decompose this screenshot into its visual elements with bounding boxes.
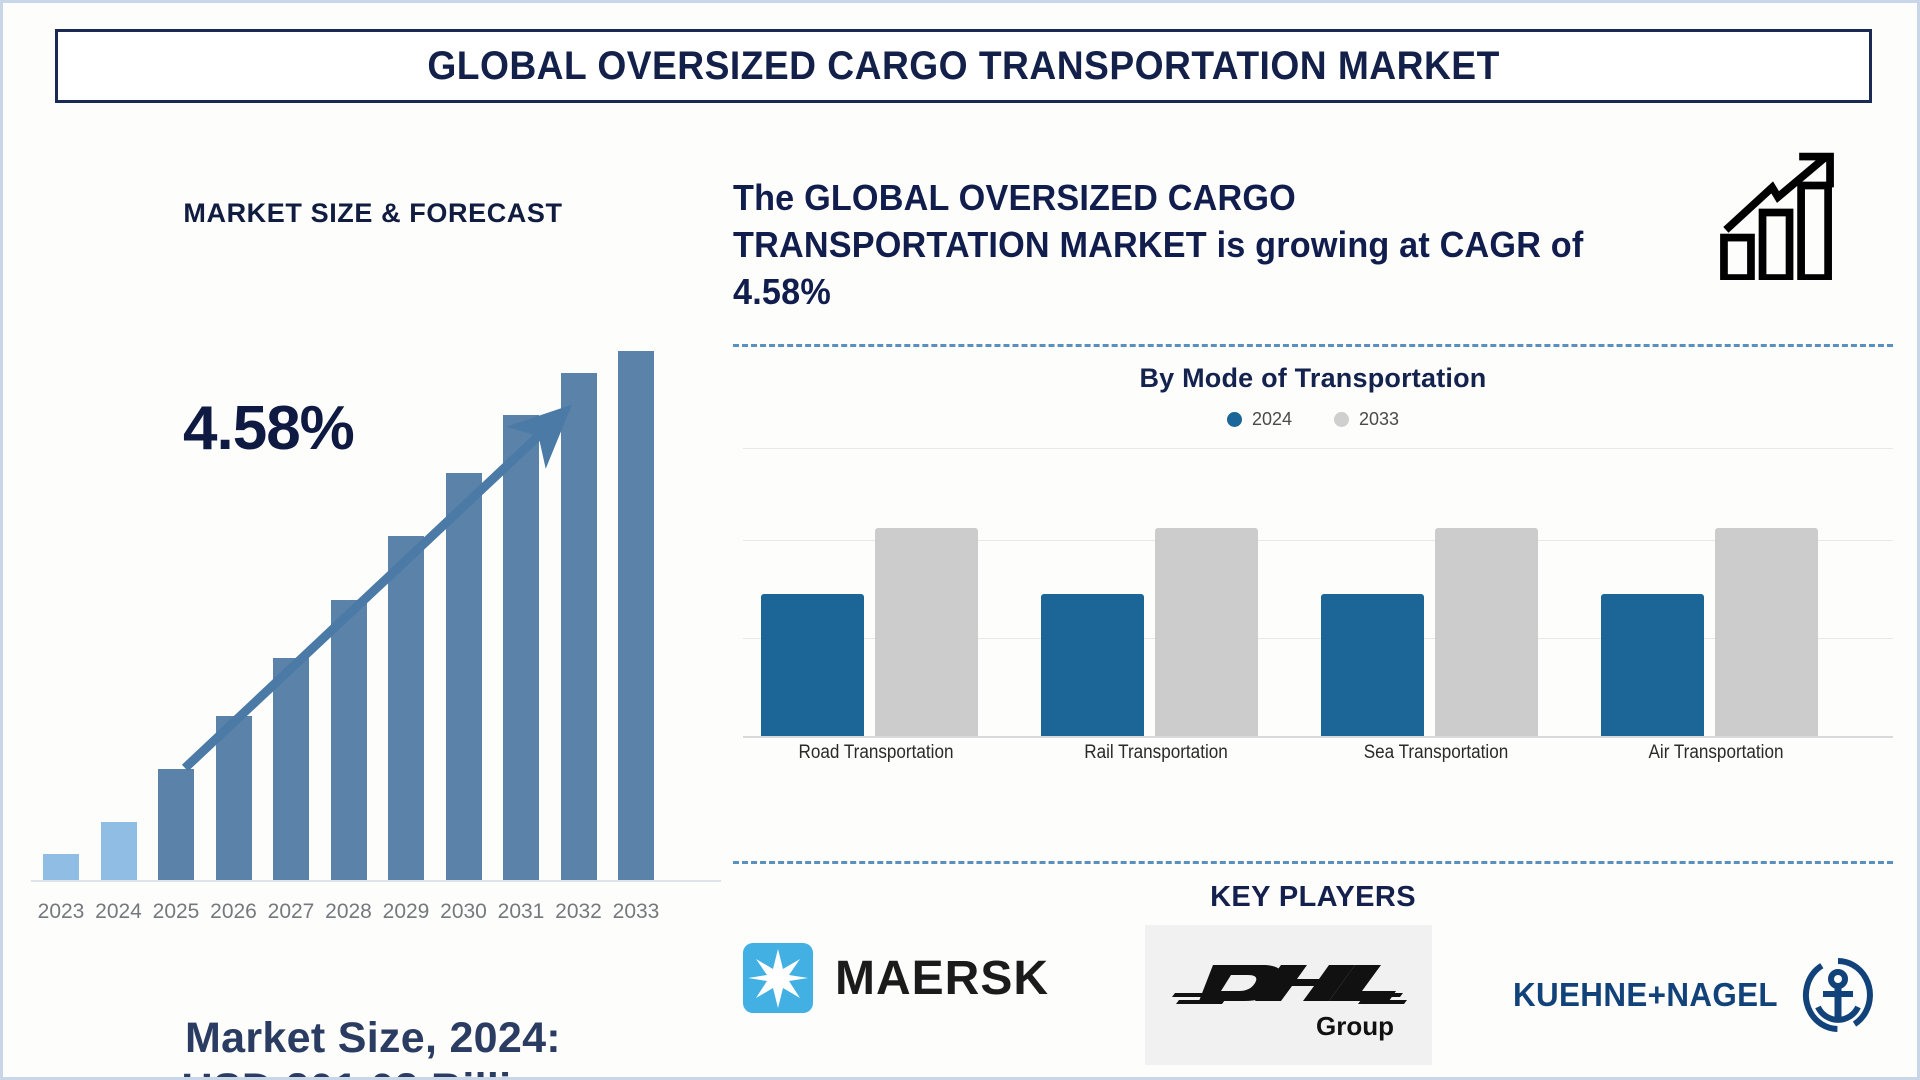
forecast-year-label: 2028: [321, 900, 377, 924]
legend-swatch-2033: [1334, 412, 1349, 427]
bar-group: Sea Transportation: [1321, 448, 1551, 736]
seven-point-star-icon: [743, 943, 813, 1013]
bar-2024: [761, 594, 864, 737]
forecast-year-label: 2029: [378, 900, 434, 924]
legend-item-2033[interactable]: 2033: [1334, 409, 1399, 430]
page-title: GLOBAL OVERSIZED CARGO TRANSPORTATION MA…: [427, 44, 1499, 89]
forecast-bars: [25, 320, 725, 880]
forecast-year-label: 2031: [493, 900, 549, 924]
legend-label-2024: 2024: [1252, 409, 1292, 430]
bar-2033: [1435, 528, 1538, 736]
key-players-heading: KEY PLAYERS: [733, 881, 1893, 914]
forecast-year-labels: 2023202420252026202720282029203020312032…: [25, 894, 725, 924]
market-size-label: Market Size, 2024:: [3, 1013, 743, 1064]
bar-2024: [1321, 594, 1424, 737]
bar-2024: [1041, 594, 1144, 737]
legend-label-2033: 2033: [1359, 409, 1399, 430]
category-label: Sea Transportation: [1310, 742, 1562, 764]
anchor-circle-icon: [1801, 955, 1875, 1035]
forecast-year-label: 2023: [33, 900, 89, 924]
bar-group: Road Transportation: [761, 448, 991, 736]
forecast-bar: [43, 854, 79, 880]
title-box: GLOBAL OVERSIZED CARGO TRANSPORTATION MA…: [55, 29, 1872, 103]
forecast-bar: [618, 351, 654, 880]
forecast-year-label: 2030: [436, 900, 492, 924]
bar-2033: [1715, 528, 1818, 736]
forecast-bar: [388, 536, 424, 880]
forecast-year-label: 2025: [148, 900, 204, 924]
legend-item-2024[interactable]: 2024: [1227, 409, 1292, 430]
divider-dashed-bottom: [733, 861, 1893, 864]
forecast-bar: [561, 373, 597, 880]
forecast-bar: [101, 822, 137, 880]
forecast-bar: [503, 415, 539, 880]
forecast-bar: [216, 716, 252, 880]
logo-kuehne-nagel-wordmark: KUEHNE+NAGEL: [1513, 976, 1778, 1014]
bar-2033: [1155, 528, 1258, 736]
logo-maersk-wordmark: MAERSK: [835, 951, 1049, 1006]
category-label: Rail Transportation: [1030, 742, 1282, 764]
forecast-year-label: 2024: [91, 900, 147, 924]
logo-kuehne-nagel[interactable]: KUEHNE+NAGEL: [1506, 955, 1875, 1035]
cagr-headline: The GLOBAL OVERSIZED CARGO TRANSPORTATIO…: [733, 175, 1588, 315]
logo-dhl-group-label: Group: [1316, 1011, 1394, 1042]
bar-2033: [875, 528, 978, 736]
legend-swatch-2024: [1227, 412, 1242, 427]
forecast-bar: [273, 658, 309, 880]
mode-of-transportation-chart: Road TransportationRail TransportationSe…: [743, 448, 1893, 738]
forecast-year-label: 2026: [206, 900, 262, 924]
growth-bar-chart-arrow-icon: [1718, 145, 1863, 280]
key-players-logos: MAERSK Group KUEHNE+NAG: [733, 925, 1893, 1065]
market-size-forecast-label: MARKET SIZE & FORECAST: [3, 198, 743, 229]
market-size-value: USD 201.02 Billion: [3, 1064, 743, 1080]
category-label: Road Transportation: [750, 742, 1002, 764]
chart-legend: 2024 2033: [733, 409, 1893, 430]
grouped-chart-baseline: [743, 736, 1893, 738]
market-size-2024-callout: Market Size, 2024: USD 201.02 Billion: [3, 1013, 743, 1080]
forecast-year-label: 2032: [551, 900, 607, 924]
divider-dashed-top: [733, 344, 1893, 347]
right-panel: The GLOBAL OVERSIZED CARGO TRANSPORTATIO…: [733, 113, 1893, 1073]
market-size-forecast-panel: MARKET SIZE & FORECAST 4.58% 20232024202…: [3, 113, 743, 1073]
logo-maersk[interactable]: MAERSK: [743, 943, 1049, 1013]
forecast-year-label: 2033: [608, 900, 664, 924]
category-label: Air Transportation: [1590, 742, 1842, 764]
market-size-forecast-chart: 2023202420252026202720282029203020312032…: [25, 308, 725, 968]
bar-group: Rail Transportation: [1041, 448, 1271, 736]
infographic-page: GLOBAL OVERSIZED CARGO TRANSPORTATION MA…: [0, 0, 1920, 1080]
forecast-axis-line: [31, 880, 721, 882]
logo-dhl[interactable]: Group: [1145, 925, 1432, 1065]
bar-group: Air Transportation: [1601, 448, 1831, 736]
dhl-wordmark-icon: [1169, 949, 1409, 1015]
forecast-bar: [331, 600, 367, 880]
forecast-year-label: 2027: [263, 900, 319, 924]
bar-2024: [1601, 594, 1704, 737]
segment-title: By Mode of Transportation: [733, 363, 1893, 394]
forecast-bar: [158, 769, 194, 880]
forecast-bar: [446, 473, 482, 880]
